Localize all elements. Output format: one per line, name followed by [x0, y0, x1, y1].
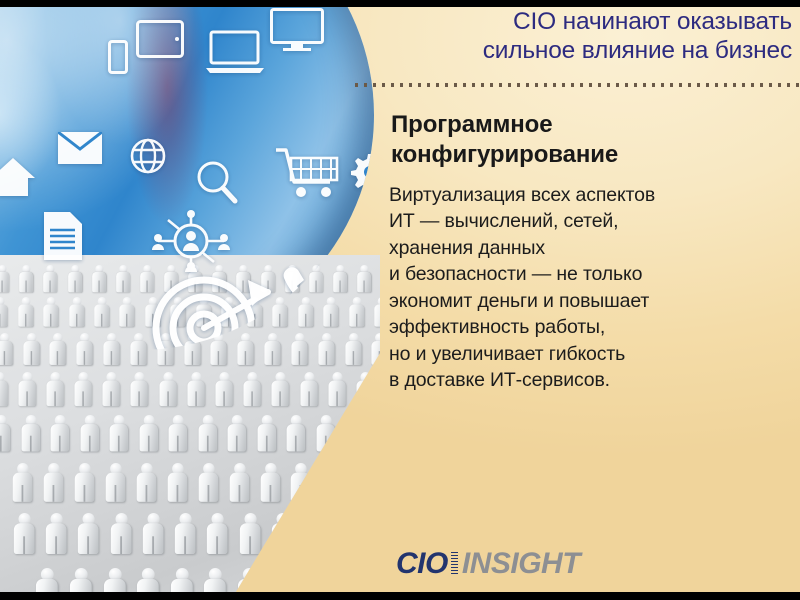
figure-body — [68, 272, 82, 292]
crowd-figure — [76, 513, 100, 554]
figure-body — [23, 341, 39, 365]
crowd-figure — [256, 415, 278, 451]
figure-body — [143, 524, 164, 555]
crowd-figure — [22, 333, 41, 365]
crowd-figure — [0, 333, 14, 365]
body-paragraph: Виртуализация всех аспектов ИТ — вычисле… — [389, 182, 793, 393]
body-line: хранения данных — [389, 235, 793, 261]
crowd-figure — [302, 513, 326, 554]
figure-body — [103, 381, 120, 407]
network-people-icon — [148, 210, 234, 272]
crowd-figure — [44, 513, 68, 554]
crowd-figure — [285, 415, 307, 451]
crowd-figure — [108, 415, 130, 451]
figure-body — [137, 472, 156, 501]
figure-body — [0, 272, 9, 292]
crowd-figure — [351, 463, 374, 502]
figure-body — [336, 524, 357, 555]
section-heading-line-2: конфигурирование — [391, 141, 618, 168]
logo-divider — [451, 552, 458, 576]
figure-body — [0, 304, 7, 326]
crowd-figure — [18, 265, 34, 292]
figure-body — [272, 381, 289, 407]
figure-body — [228, 424, 246, 451]
crowd-figure — [334, 513, 358, 554]
figure-head — [343, 568, 356, 581]
figure-body — [46, 381, 63, 407]
cloud-upload-icon — [350, 288, 374, 346]
figure-body — [272, 524, 293, 555]
figure-body — [260, 472, 279, 501]
crowd-figure — [42, 297, 59, 327]
dotted-divider — [355, 83, 800, 87]
crowd-figure — [73, 372, 93, 406]
figure-body — [75, 381, 92, 407]
envelope-icon — [58, 132, 102, 164]
figure-body — [287, 424, 305, 451]
figure-body — [239, 524, 260, 555]
crowd-figure — [205, 513, 229, 554]
crowd-figure — [320, 463, 343, 502]
figure-body — [316, 424, 334, 451]
figure-body — [353, 472, 372, 501]
crowd-figure — [355, 372, 375, 406]
figure-body — [229, 472, 248, 501]
phone-signal-icon — [280, 262, 344, 318]
figure-body — [50, 341, 66, 365]
crowd-figure — [67, 265, 83, 292]
figure-body — [104, 341, 120, 365]
crowd-figure — [0, 372, 9, 406]
figure-head — [308, 513, 320, 525]
crowd-figure — [12, 513, 36, 554]
figure-body — [77, 341, 93, 365]
figure-body — [14, 524, 35, 555]
body-line: ИТ — вычислений, сетей, — [389, 208, 793, 234]
figure-body — [13, 472, 32, 501]
figure-body — [139, 424, 157, 451]
body-line: в доставке ИТ-сервисов. — [389, 367, 793, 393]
figure-body — [300, 381, 317, 407]
crowd-figure — [115, 265, 131, 292]
crowd-figure — [42, 265, 58, 292]
figure-body — [120, 304, 135, 326]
crowd-figure — [259, 463, 282, 502]
figure-body — [346, 424, 364, 451]
figure-body — [187, 381, 204, 407]
figure-head — [377, 568, 380, 581]
figure-body — [291, 472, 310, 501]
crowd-figure — [0, 265, 10, 292]
figure-head — [373, 513, 380, 525]
crowd-figure — [104, 463, 127, 502]
slide-title-line-1: CIO начинают оказывать — [513, 8, 792, 35]
slide-artwork — [0, 0, 380, 600]
figure-body — [18, 381, 35, 407]
figure-head — [350, 415, 361, 426]
body-line: экономит деньги и повышает — [389, 288, 793, 314]
crowd-figure — [20, 415, 42, 451]
crowd-figure — [91, 265, 107, 292]
crowd-figure — [141, 513, 165, 554]
figure-body — [0, 381, 7, 407]
crowd-figure — [299, 372, 319, 406]
crowd-figure — [101, 372, 121, 406]
crowd-figure — [290, 333, 309, 365]
crowd-figure — [75, 333, 94, 365]
figure-body — [0, 341, 12, 365]
crowd-figure — [109, 513, 133, 554]
tablet-icon — [136, 20, 184, 58]
house-icon — [0, 156, 36, 196]
crowd-figure — [197, 463, 220, 502]
figure-body — [80, 424, 98, 451]
figure-body — [44, 272, 58, 292]
figure-body — [356, 381, 373, 407]
crowd-figure — [317, 333, 336, 365]
letterbox-bar-bottom — [0, 592, 800, 600]
figure-body — [78, 524, 99, 555]
crowd-figure — [270, 372, 290, 406]
crowd-figure — [17, 297, 34, 327]
crowd-figure — [102, 333, 121, 365]
figure-body — [159, 381, 176, 407]
cio-insight-logo: CIO INSIGHT — [396, 549, 580, 579]
figure-body — [69, 304, 84, 326]
figure-body — [207, 524, 228, 555]
figure-body — [51, 424, 69, 451]
figure-body — [94, 304, 109, 326]
figure-body — [46, 524, 67, 555]
crowd-figure — [45, 372, 65, 406]
logo-primary-text: CIO — [396, 549, 448, 579]
figure-head — [357, 463, 368, 474]
figure-head — [309, 568, 322, 581]
figure-body — [198, 424, 216, 451]
figure-body — [216, 381, 233, 407]
crowd-figure — [197, 415, 219, 451]
crowd-figure — [68, 297, 85, 327]
magnifier-icon — [196, 160, 238, 204]
section-heading-line-1: Программное — [391, 111, 553, 138]
slide-title: CIO начинают оказывать сильное влияние н… — [388, 8, 792, 66]
target-dart-icon — [152, 276, 272, 350]
figure-body — [175, 524, 196, 555]
figure-head — [276, 513, 288, 525]
crowd-figure — [315, 415, 337, 451]
crowd-figure — [93, 297, 110, 327]
figure-head — [242, 568, 255, 581]
body-line: но и увеличивает гибкость — [389, 341, 793, 367]
figure-body — [0, 424, 10, 451]
figure-body — [368, 524, 380, 555]
crowd-figure — [49, 415, 71, 451]
figure-body — [110, 424, 128, 451]
figure-body — [291, 341, 307, 365]
crowd-figure — [242, 372, 262, 406]
gears-icon — [350, 152, 374, 204]
crowd-figure — [226, 415, 248, 451]
letterbox-bar-top — [0, 0, 800, 7]
figure-body — [111, 524, 132, 555]
crowd-figure — [228, 463, 251, 502]
laptop-icon — [204, 30, 266, 76]
crowd-figure — [167, 415, 189, 451]
figure-body — [304, 524, 325, 555]
figure-body — [318, 341, 334, 365]
figure-body — [20, 272, 34, 292]
figure-head — [379, 415, 380, 426]
crowd-figure — [11, 463, 34, 502]
section-heading: Программное конфигурирование — [391, 110, 791, 170]
figure-head — [326, 463, 337, 474]
slide-title-line-2: сильное влияние на бизнес — [483, 37, 792, 64]
figure-body — [75, 472, 94, 501]
crowd-figure — [73, 463, 96, 502]
figure-body — [244, 381, 261, 407]
document-icon — [44, 212, 82, 260]
crowd-figure — [373, 297, 380, 327]
logo-secondary-text: INSIGHT — [462, 549, 580, 579]
crowd-figure — [42, 463, 65, 502]
figure-body — [376, 424, 380, 451]
crowd-figure — [374, 415, 380, 451]
figure-head — [276, 568, 289, 581]
figure-body — [21, 424, 39, 451]
crowd-figure — [118, 297, 135, 327]
crowd-figure — [17, 372, 37, 406]
figure-body — [106, 472, 125, 501]
crowd-figure — [48, 333, 67, 365]
crowd-figure — [289, 463, 312, 502]
crowd-figure — [129, 372, 149, 406]
crowd-figure — [138, 415, 160, 451]
figure-body — [44, 472, 63, 501]
crowd-figure — [129, 333, 148, 365]
presentation-slide: CIO начинают оказывать сильное влияние н… — [0, 0, 800, 600]
crowd-figure — [214, 372, 234, 406]
smartphone-icon — [108, 40, 128, 74]
figure-body — [131, 381, 148, 407]
figure-body — [322, 472, 341, 501]
figure-body — [169, 424, 187, 451]
body-line: Виртуализация всех аспектов — [389, 182, 793, 208]
figure-body — [43, 304, 58, 326]
figure-body — [168, 472, 187, 501]
crowd-figure — [238, 513, 262, 554]
globe-icon — [130, 138, 166, 174]
crowd-figure — [158, 372, 178, 406]
figure-body — [257, 424, 275, 451]
body-line: эффективность работы, — [389, 314, 793, 340]
crowd-figure — [327, 372, 347, 406]
body-line: и безопасности — не только — [389, 261, 793, 287]
crowd-figure — [135, 463, 158, 502]
figure-body — [375, 304, 380, 326]
figure-body — [328, 381, 345, 407]
figure-head — [340, 513, 352, 525]
figure-body — [199, 472, 218, 501]
crowd-figure — [166, 463, 189, 502]
crowd-figure — [173, 513, 197, 554]
figure-body — [18, 304, 33, 326]
figure-body — [92, 272, 106, 292]
crowd-figure — [0, 415, 12, 451]
crowd-figure — [186, 372, 206, 406]
crowd-figure — [344, 415, 366, 451]
crowd-figure — [0, 297, 9, 327]
figure-body — [116, 272, 130, 292]
crowd-figure — [79, 415, 101, 451]
shopping-cart-icon — [276, 148, 340, 198]
figure-body — [130, 341, 146, 365]
monitor-icon — [270, 8, 324, 52]
crowd-figure — [367, 513, 380, 554]
crowd-figure — [270, 513, 294, 554]
